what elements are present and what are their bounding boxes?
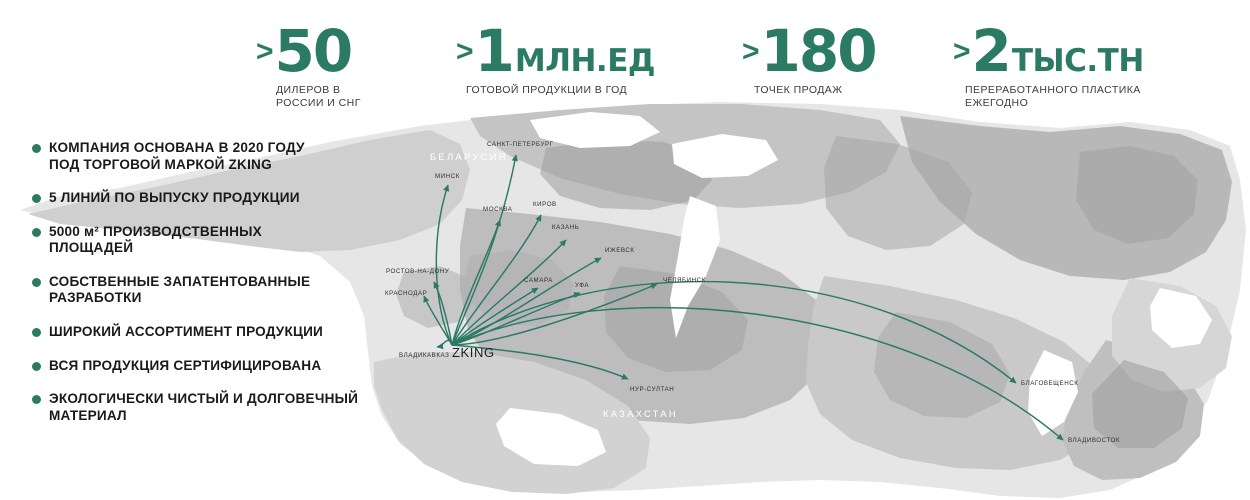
list-item-label: ВСЯ ПРОДУКЦИЯ СЕРТИФИЦИРОВАНА: [49, 358, 321, 375]
greater-than-icon: >: [256, 37, 274, 67]
list-item: 5 ЛИНИЙ ПО ВЫПУСКУ ПРОДУКЦИИ: [32, 190, 392, 207]
list-item: ВСЯ ПРОДУКЦИЯ СЕРТИФИЦИРОВАНА: [32, 358, 392, 375]
stat-number: 1: [475, 22, 513, 80]
greater-than-icon: >: [953, 37, 971, 67]
list-item: СОБСТВЕННЫЕ ЗАПАТЕНТОВАННЫЕ РАЗРАБОТКИ: [32, 274, 392, 307]
city-label: САМАРА: [524, 277, 553, 284]
stat-sublabel: ГОТОВОЙ ПРОДУКЦИИ В ГОД: [466, 84, 655, 97]
city-label: МИНСК: [435, 173, 460, 180]
list-item-label: ШИРОКИЙ АССОРТИМЕНТ ПРОДУКЦИИ: [49, 324, 323, 341]
city-label: КИРОВ: [533, 201, 557, 208]
city-label: ВЛАДИВОСТОК: [1068, 437, 1120, 444]
stat-figure: > 2 ТЫС.ТН: [953, 22, 1144, 80]
city-label: САНКТ-ПЕТЕРБУРГ: [487, 141, 554, 148]
city-label: КАЗАНЬ: [552, 224, 579, 231]
stat-unit: МЛН.ЕД: [515, 46, 655, 77]
list-item: ЭКОЛОГИЧЕСКИ ЧИСТЫЙ И ДОЛГОВЕЧНЫЙ МАТЕРИ…: [32, 391, 392, 424]
stat-number: 2: [972, 22, 1010, 80]
stat-block-production: > 1 МЛН.ЕД ГОТОВОЙ ПРОДУКЦИИ В ГОД: [456, 22, 655, 97]
stat-block-dealers: > 50 ДИЛЕРОВ В РОССИИ И СНГ: [256, 22, 361, 111]
city-label: БЛАГОВЕЩЕНСК: [1021, 380, 1078, 387]
city-label: ВЛАДИКАВКАЗ: [399, 352, 449, 359]
hub-label-zking: ZKING: [452, 345, 495, 360]
list-item-label: СОБСТВЕННЫЕ ЗАПАТЕНТОВАННЫЕ РАЗРАБОТКИ: [49, 274, 310, 307]
stat-number: 180: [761, 22, 876, 80]
list-item: 5000 м² ПРОИЗВОДСТВЕННЫХ ПЛОЩАДЕЙ: [32, 224, 392, 257]
bullet-dot-icon: [32, 395, 41, 404]
infographic-root: САНКТ-ПЕТЕРБУРГМИНСКМОСКВАКИРОВКАЗАНЬИЖЕ…: [0, 0, 1250, 500]
stat-sublabel: ТОЧЕК ПРОДАЖ: [754, 84, 878, 97]
bullet-dot-icon: [32, 144, 41, 153]
city-label: ЧЕЛЯБИНСК: [663, 277, 706, 284]
city-label: УФА: [575, 282, 589, 289]
bullet-dot-icon: [32, 228, 41, 237]
stat-figure: > 1 МЛН.ЕД: [456, 22, 655, 80]
stat-unit: ТЫС.ТН: [1012, 46, 1144, 77]
list-item-label: КОМПАНИЯ ОСНОВАНА В 2020 ГОДУ ПОД ТОРГОВ…: [49, 140, 305, 173]
city-label: НУР-СУЛТАН: [630, 386, 674, 393]
country-label: БЕЛАРУСИЯ: [430, 152, 508, 163]
bullet-dot-icon: [32, 194, 41, 203]
city-label: ИЖЕВСК: [605, 247, 635, 254]
stat-block-sales-points: > 180 ТОЧЕК ПРОДАЖ: [742, 22, 878, 97]
stat-figure: > 50: [256, 22, 361, 80]
list-item: ШИРОКИЙ АССОРТИМЕНТ ПРОДУКЦИИ: [32, 324, 392, 341]
feature-bullet-list: КОМПАНИЯ ОСНОВАНА В 2020 ГОДУ ПОД ТОРГОВ…: [32, 140, 392, 441]
list-item-label: 5000 м² ПРОИЗВОДСТВЕННЫХ ПЛОЩАДЕЙ: [49, 224, 262, 257]
city-label: РОСТОВ-НА-ДОНУ: [386, 268, 449, 275]
greater-than-icon: >: [742, 37, 760, 67]
stat-sublabel: ПЕРЕРАБОТАННОГО ПЛАСТИКА ЕЖЕГОДНО: [965, 84, 1144, 111]
list-item-label: ЭКОЛОГИЧЕСКИ ЧИСТЫЙ И ДОЛГОВЕЧНЫЙ МАТЕРИ…: [49, 391, 358, 424]
bullet-dot-icon: [32, 278, 41, 287]
list-item: КОМПАНИЯ ОСНОВАНА В 2020 ГОДУ ПОД ТОРГОВ…: [32, 140, 392, 173]
stat-figure: > 180: [742, 22, 878, 80]
city-label: МОСКВА: [483, 206, 512, 213]
list-item-label: 5 ЛИНИЙ ПО ВЫПУСКУ ПРОДУКЦИИ: [49, 190, 300, 207]
country-label: КАЗАХСТАН: [603, 409, 678, 420]
stat-block-recycled-plastic: > 2 ТЫС.ТН ПЕРЕРАБОТАННОГО ПЛАСТИКА ЕЖЕГ…: [953, 22, 1144, 111]
bullet-dot-icon: [32, 328, 41, 337]
bullet-dot-icon: [32, 362, 41, 371]
stat-sublabel: ДИЛЕРОВ В РОССИИ И СНГ: [276, 84, 361, 111]
stat-number: 50: [275, 22, 352, 80]
greater-than-icon: >: [456, 37, 474, 67]
stats-row: > 50 ДИЛЕРОВ В РОССИИ И СНГ > 1 МЛН.ЕД Г…: [0, 0, 1250, 112]
